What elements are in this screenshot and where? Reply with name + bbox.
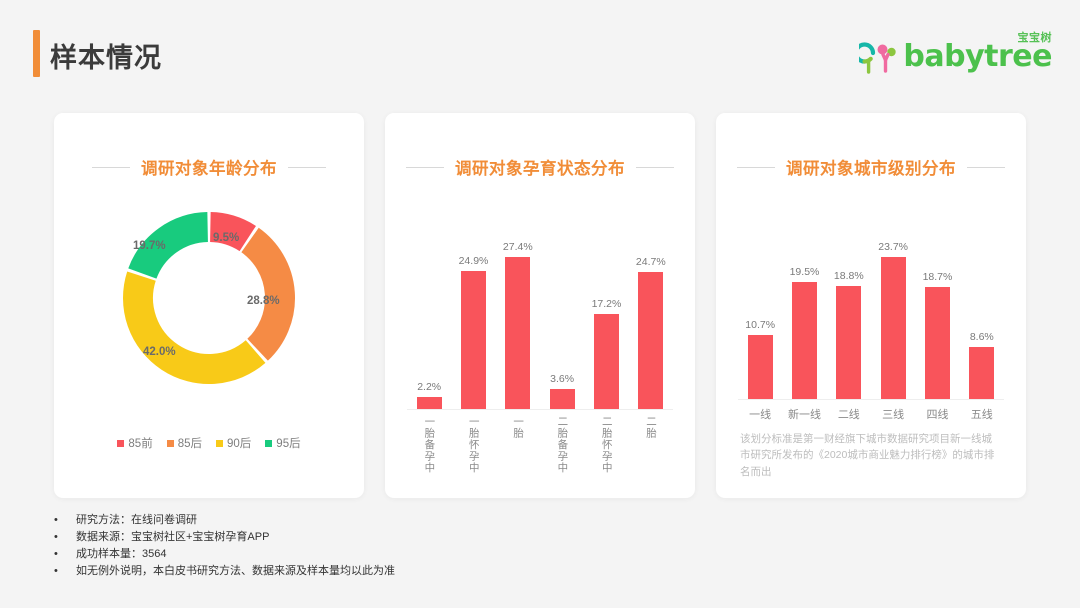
bar-column[interactable]: 19.5% bbox=[782, 209, 826, 399]
bar-value-label: 18.7% bbox=[923, 271, 953, 283]
axis-tick-label: 新一线 bbox=[788, 406, 821, 422]
axis-label-cell: 四线 bbox=[915, 406, 959, 422]
footer-note-row: •成功样本量：3564 bbox=[54, 546, 854, 563]
bar-column[interactable]: 23.7% bbox=[871, 209, 915, 399]
axis-label-cell: 一胎怀孕中 bbox=[451, 416, 495, 474]
axis-label-cell: 一线 bbox=[738, 406, 782, 422]
axis-tick-label: 五线 bbox=[971, 406, 993, 422]
bar-rect[interactable] bbox=[969, 347, 994, 399]
axis-tick-label: 二线 bbox=[838, 406, 860, 422]
card-city-tier-distribution: 调研对象城市级别分布 10.7%19.5%18.8%23.7%18.7%8.6%… bbox=[716, 113, 1026, 498]
bar-rect[interactable] bbox=[417, 397, 442, 409]
axis-tick-label: 二胎 bbox=[646, 416, 657, 474]
footer-bullet: • bbox=[54, 529, 76, 546]
footer-note-text: 成功样本量：3564 bbox=[76, 546, 166, 563]
bar-value-label: 18.8% bbox=[834, 270, 864, 282]
bar-rect[interactable] bbox=[550, 389, 575, 409]
footer-bullet: • bbox=[54, 546, 76, 563]
age-donut-chart: 9.5% 28.8% 42.0% 19.7% bbox=[116, 205, 302, 391]
bar-value-label: 24.9% bbox=[459, 255, 489, 267]
legend-label: 85前 bbox=[128, 435, 152, 451]
logo-cn-name: 宝宝树 bbox=[1018, 29, 1053, 45]
bar-column[interactable]: 27.4% bbox=[496, 209, 540, 409]
babytree-logo: 宝宝树 babytree bbox=[859, 36, 1052, 76]
bar-rect[interactable] bbox=[461, 271, 486, 409]
axis-label-cell: 一胎 bbox=[496, 416, 540, 474]
legend-label: 95后 bbox=[276, 435, 300, 451]
footer-note-text: 研究方法：在线问卷调研 bbox=[76, 512, 197, 529]
card-status-title-row: 调研对象孕育状态分布 bbox=[385, 155, 695, 179]
card-city-title: 调研对象城市级别分布 bbox=[786, 155, 956, 179]
bar-column[interactable]: 2.2% bbox=[407, 209, 451, 409]
bar-column[interactable]: 10.7% bbox=[738, 209, 782, 399]
bar-rect[interactable] bbox=[881, 257, 906, 399]
axis-label-cell: 二胎备孕中 bbox=[540, 416, 584, 474]
legend-item[interactable]: 85前 bbox=[117, 435, 152, 451]
bar-value-label: 3.6% bbox=[550, 373, 574, 385]
bar-value-label: 10.7% bbox=[745, 319, 775, 331]
footer-note-text: 数据来源：宝宝树社区+宝宝树孕育APP bbox=[76, 529, 269, 546]
bar-rect[interactable] bbox=[594, 314, 619, 409]
city-tier-footnote: 该划分标准是第一财经旗下城市数据研究项目新一线城市研究所发布的《2020城市商业… bbox=[740, 431, 1002, 480]
footer-note-row: •数据来源：宝宝树社区+宝宝树孕育APP bbox=[54, 529, 854, 546]
axis-label-cell: 一胎备孕中 bbox=[407, 416, 451, 474]
title-rule-right bbox=[967, 167, 1005, 168]
city-plot: 10.7%19.5%18.8%23.7%18.7%8.6% bbox=[738, 209, 1004, 400]
babytree-logo-mark bbox=[859, 42, 901, 76]
bar-rect[interactable] bbox=[836, 286, 861, 399]
title-rule-left bbox=[406, 167, 444, 168]
card-status-title: 调研对象孕育状态分布 bbox=[455, 155, 625, 179]
legend-label: 90后 bbox=[227, 435, 251, 451]
donut-value-label: 9.5% bbox=[213, 232, 239, 244]
axis-tick-label: 一胎怀孕中 bbox=[468, 416, 479, 474]
legend-item[interactable]: 85后 bbox=[167, 435, 202, 451]
card-age-title-row: 调研对象年龄分布 bbox=[54, 155, 364, 179]
footer-bullet: • bbox=[54, 563, 76, 580]
axis-label-cell: 二胎 bbox=[629, 416, 673, 474]
axis-tick-label: 一胎 bbox=[513, 416, 524, 474]
bar-column[interactable]: 8.6% bbox=[960, 209, 1004, 399]
bar-value-label: 17.2% bbox=[592, 298, 622, 310]
bar-rect[interactable] bbox=[505, 257, 530, 409]
title-rule-left bbox=[737, 167, 775, 168]
axis-tick-label: 二胎怀孕中 bbox=[601, 416, 612, 474]
bar-value-label: 23.7% bbox=[878, 241, 908, 253]
axis-label-cell: 二线 bbox=[827, 406, 871, 422]
bar-column[interactable]: 24.7% bbox=[629, 209, 673, 409]
axis-tick-label: 一胎备孕中 bbox=[424, 416, 435, 474]
title-rule-right bbox=[288, 167, 326, 168]
title-rule-right bbox=[636, 167, 674, 168]
bar-column[interactable]: 24.9% bbox=[451, 209, 495, 409]
status-plot: 2.2%24.9%27.4%3.6%17.2%24.7% bbox=[407, 209, 673, 410]
bar-column[interactable]: 17.2% bbox=[584, 209, 628, 409]
bar-column[interactable]: 18.7% bbox=[915, 209, 959, 399]
status-bar-chart: 2.2%24.9%27.4%3.6%17.2%24.7% 一胎备孕中一胎怀孕中一… bbox=[407, 209, 673, 494]
legend-item[interactable]: 90后 bbox=[216, 435, 251, 451]
bar-rect[interactable] bbox=[792, 282, 817, 399]
axis-label-cell: 五线 bbox=[960, 406, 1004, 422]
city-bar-chart: 10.7%19.5%18.8%23.7%18.7%8.6% 一线新一线二线三线四… bbox=[738, 209, 1004, 444]
footer-note-text: 如无例外说明，本白皮书研究方法、数据来源及样本量均以此为准 bbox=[76, 563, 395, 580]
axis-label-cell: 新一线 bbox=[782, 406, 826, 422]
axis-label-cell: 三线 bbox=[871, 406, 915, 422]
status-axis-labels: 一胎备孕中一胎怀孕中一胎二胎备孕中二胎怀孕中二胎 bbox=[407, 416, 673, 474]
legend-swatch bbox=[117, 440, 124, 447]
axis-tick-label: 四线 bbox=[926, 406, 948, 422]
legend-item[interactable]: 95后 bbox=[265, 435, 300, 451]
title-rule-left bbox=[92, 167, 130, 168]
bar-value-label: 27.4% bbox=[503, 241, 533, 253]
footer-note-row: •如无例外说明，本白皮书研究方法、数据来源及样本量均以此为准 bbox=[54, 563, 854, 580]
bar-value-label: 2.2% bbox=[417, 381, 441, 393]
page-header: 样本情况 宝宝树 babytree bbox=[0, 0, 1080, 100]
age-donut-legend: 85前85后90后95后 bbox=[54, 435, 364, 451]
bar-rect[interactable] bbox=[748, 335, 773, 399]
title-accent-bar bbox=[33, 30, 40, 77]
bar-value-label: 19.5% bbox=[790, 266, 820, 278]
donut-value-label: 28.8% bbox=[247, 295, 280, 307]
axis-tick-label: 一线 bbox=[749, 406, 771, 422]
bar-column[interactable]: 18.8% bbox=[827, 209, 871, 399]
axis-tick-label: 三线 bbox=[882, 406, 904, 422]
donut-value-label: 19.7% bbox=[133, 240, 166, 252]
legend-swatch bbox=[216, 440, 223, 447]
axis-label-cell: 二胎怀孕中 bbox=[584, 416, 628, 474]
card-city-title-row: 调研对象城市级别分布 bbox=[716, 155, 1026, 179]
legend-swatch bbox=[167, 440, 174, 447]
city-axis-labels: 一线新一线二线三线四线五线 bbox=[738, 406, 1004, 422]
footer-bullet: • bbox=[54, 512, 76, 529]
footer-notes: •研究方法：在线问卷调研•数据来源：宝宝树社区+宝宝树孕育APP•成功样本量：3… bbox=[54, 512, 854, 580]
bar-column[interactable]: 3.6% bbox=[540, 209, 584, 409]
card-pregnancy-status-distribution: 调研对象孕育状态分布 2.2%24.9%27.4%3.6%17.2%24.7% … bbox=[385, 113, 695, 498]
bar-rect[interactable] bbox=[925, 287, 950, 399]
legend-label: 85后 bbox=[178, 435, 202, 451]
legend-swatch bbox=[265, 440, 272, 447]
bar-rect[interactable] bbox=[638, 272, 663, 409]
bar-value-label: 8.6% bbox=[970, 331, 994, 343]
bar-value-label: 24.7% bbox=[636, 256, 666, 268]
donut-value-label: 42.0% bbox=[143, 346, 176, 358]
card-age-title: 调研对象年龄分布 bbox=[141, 155, 277, 179]
page-title: 样本情况 bbox=[50, 36, 162, 75]
axis-tick-label: 二胎备孕中 bbox=[557, 416, 568, 474]
card-age-distribution: 调研对象年龄分布 9.5% 28.8% 42.0% 19.7% 85前85后90… bbox=[54, 113, 364, 498]
footer-note-row: •研究方法：在线问卷调研 bbox=[54, 512, 854, 529]
